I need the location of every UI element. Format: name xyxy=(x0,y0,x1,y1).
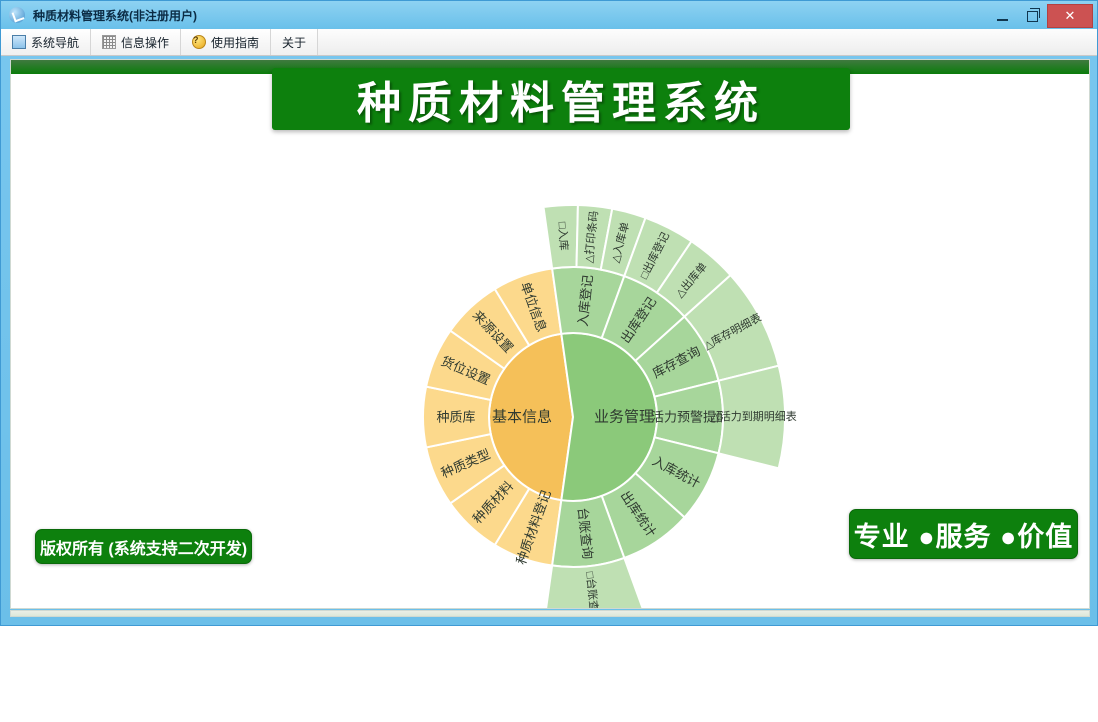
minimize-button[interactable] xyxy=(987,5,1017,27)
sunburst-label-l3: △活力到期明细表 xyxy=(711,409,796,423)
tab-label: 关于 xyxy=(282,34,306,51)
slogan-badge: 专业 ●服务 ●价值 xyxy=(849,509,1078,559)
tab-system-navigation[interactable]: 系统导航 xyxy=(1,29,91,55)
grid-icon xyxy=(102,35,116,49)
help-icon: ? xyxy=(192,35,206,49)
app-logo-icon xyxy=(9,7,25,23)
menu-bar: 系统导航 信息操作 ? 使用指南 关于 xyxy=(1,29,1097,56)
sunburst-label-l3: □入库 xyxy=(556,222,571,251)
status-bar xyxy=(10,610,1090,617)
sunburst-center-label: 基本信息 xyxy=(492,409,552,426)
sunburst-label-l2: 种质库 xyxy=(436,410,475,425)
title-bar: 种质材料管理系统(非注册用户) ✕ xyxy=(1,1,1097,29)
window-icon xyxy=(12,35,26,49)
window-title: 种质材料管理系统(非注册用户) xyxy=(33,7,197,24)
tab-information-operations[interactable]: 信息操作 xyxy=(91,29,181,55)
banner: 种质材料管理系统 xyxy=(272,68,850,130)
tab-user-guide[interactable]: ? 使用指南 xyxy=(181,29,271,55)
restore-button[interactable] xyxy=(1017,5,1047,27)
banner-title: 种质材料管理系统 xyxy=(357,67,765,131)
client-area: 基本信息种质材料登记种质材料种质类型种质库货位设置来源设置单位信息业务管理入库登… xyxy=(10,59,1090,609)
close-button[interactable]: ✕ xyxy=(1047,4,1093,28)
tab-label: 使用指南 xyxy=(211,34,259,51)
tab-label: 信息操作 xyxy=(121,34,169,51)
copyright-badge: 版权所有 (系统支持二次开发) xyxy=(35,529,252,564)
tab-about[interactable]: 关于 xyxy=(271,29,318,55)
application-window: 种质材料管理系统(非注册用户) ✕ 系统导航 信息操作 ? 使用指南 关于 基本… xyxy=(0,0,1098,626)
window-controls: ✕ xyxy=(987,4,1093,28)
tab-label: 系统导航 xyxy=(31,34,79,51)
sunburst-center-label: 业务管理 xyxy=(594,409,654,426)
